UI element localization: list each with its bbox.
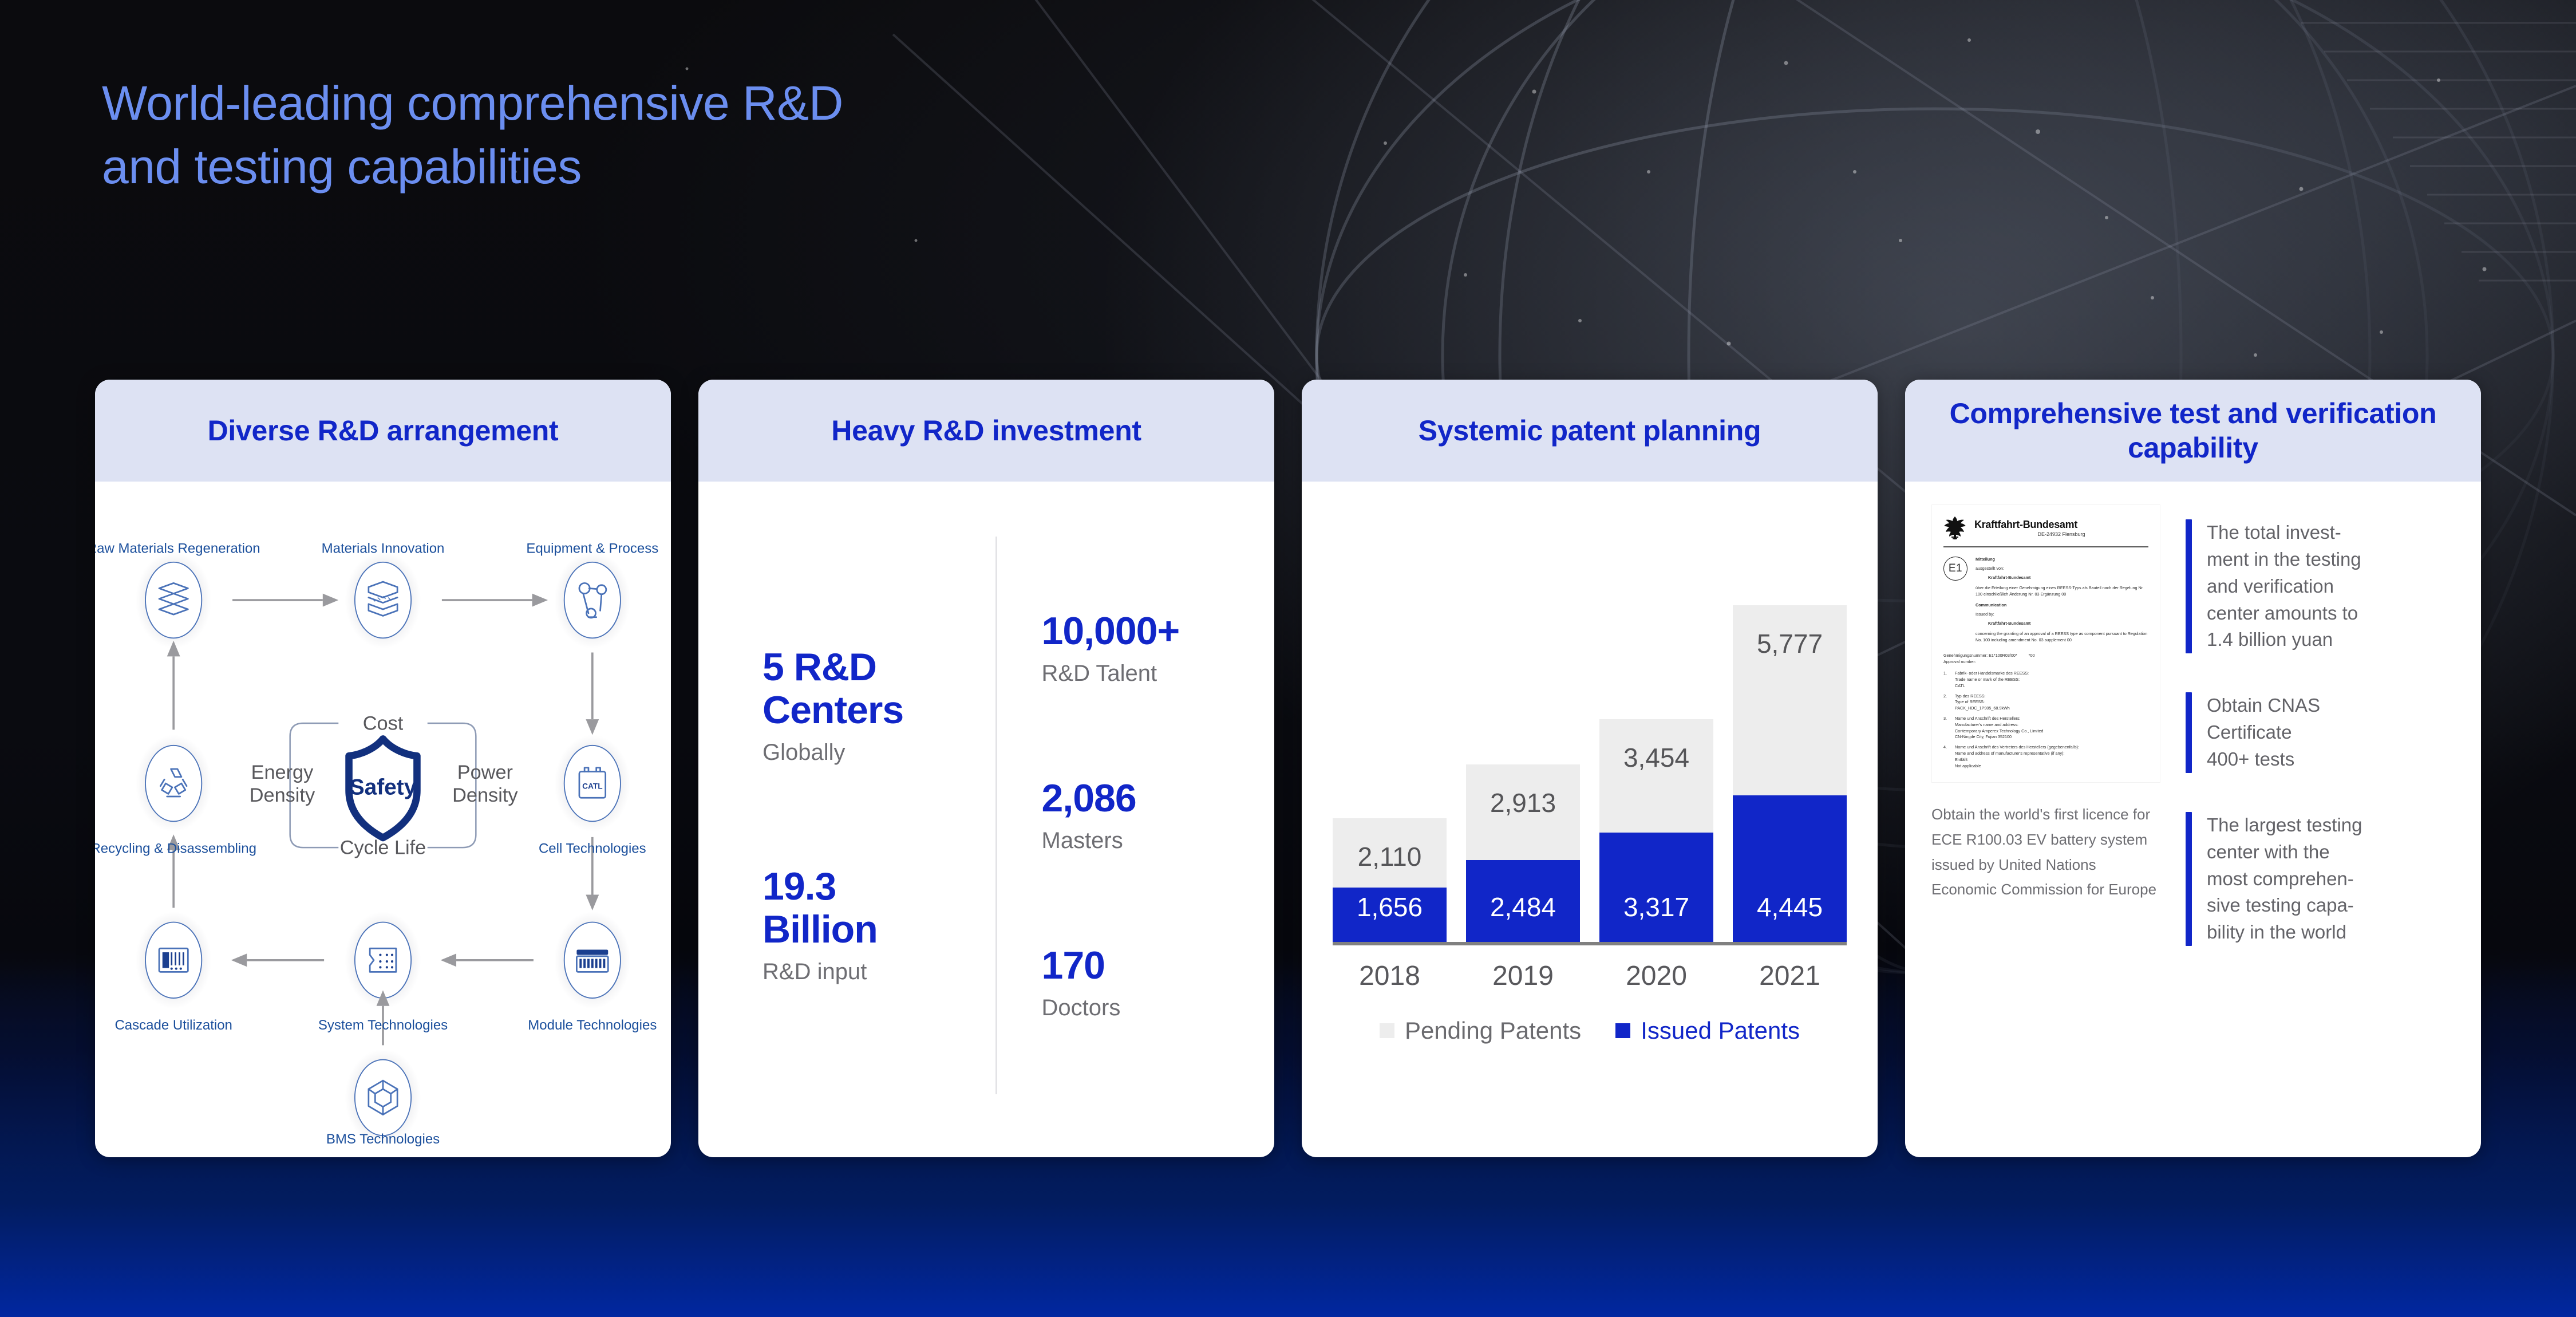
certificate-item-line: Not applicable xyxy=(1955,763,2079,770)
card-body: .nl { fill:#1b4f9c; font-family:"Liberat… xyxy=(95,482,671,1157)
node-label-cell-technologies: Cell Technologies xyxy=(539,841,646,856)
bar-label-issued: 3,317 xyxy=(1599,892,1713,922)
stat-label: Doctors xyxy=(1042,995,1275,1021)
card-systemic-patent-planning[interactable]: Systemic patent planning 2,1101,6562,913… xyxy=(1302,380,1878,1157)
bar-label-issued: 4,445 xyxy=(1733,892,1847,922)
certificate-item-line: Typ des REESS: xyxy=(1955,693,2010,700)
certificate-item-lines: Name und Anschrift des Herstellers:Manuf… xyxy=(1955,716,2043,740)
certificate-item-number: 1. xyxy=(1943,671,1950,689)
legend-label: Issued Patents xyxy=(1641,1017,1800,1044)
cert-en-body: concerning the granting of an approval o… xyxy=(1976,631,2148,644)
stat-label: Masters xyxy=(1042,828,1275,854)
certificate-divider xyxy=(1943,546,2148,547)
stat-label: Globally xyxy=(762,740,995,766)
stat-doctors: 170 Doctors xyxy=(1042,944,1275,1021)
legend-swatch-issued xyxy=(1615,1023,1630,1038)
card-header: Systemic patent planning xyxy=(1302,380,1878,482)
card-heavy-rd-investment[interactable]: Heavy R&D investment 5 R&D Centers Globa… xyxy=(698,380,1274,1157)
cert-en-issuer: Kraftfahrt-Bundesamt xyxy=(1976,621,2148,627)
legend-item-issued-patents[interactable]: Issued Patents xyxy=(1615,1017,1800,1044)
certificate-org-address: DE-24932 Flensburg xyxy=(1974,531,2148,537)
cert-de-issuer: Kraftfahrt-Bundesamt xyxy=(1976,575,2148,581)
cert-en-issued-by-label: Issued by: xyxy=(1976,612,2148,618)
bar-segment-pending[interactable]: 2,913 xyxy=(1466,764,1580,860)
certificate-item-list: 1.Fabrik- oder Handelsmarke des REESS:Tr… xyxy=(1943,671,2148,769)
node-label-equipment-process: Equipment & Process xyxy=(526,541,658,557)
verification-content: Kraftfahrt-Bundesamt DE-24932 Flensburg … xyxy=(1905,482,2481,1157)
stat-label: R&D input xyxy=(762,959,995,985)
stat-value: 2,086 xyxy=(1042,777,1275,820)
bar-group[interactable]: 2,1101,656 xyxy=(1333,818,1447,942)
cert-en-heading: Communication xyxy=(1976,602,2148,609)
bullet-text: The largest testing center with the most… xyxy=(2207,812,2362,946)
card-comprehensive-test-verification[interactable]: Comprehensive test and verification capa… xyxy=(1905,380,2481,1157)
bullet-cnas-certificate: Obtain CNAS Certificate 400+ tests xyxy=(2186,692,2452,773)
certificate-item: 1.Fabrik- oder Handelsmarke des REESS:Tr… xyxy=(1943,671,2148,689)
certificate-notice-text: Mitteilung ausgestellt von: Kraftfahrt-B… xyxy=(1976,557,2148,646)
certificate-item-line: Fabrik- oder Handelsmarke des REESS: xyxy=(1955,671,2029,677)
approval-suffix: *00 xyxy=(2018,653,2035,658)
card-title: Heavy R&D investment xyxy=(831,413,1141,448)
bullet-accent-bar xyxy=(2186,692,2192,773)
verification-bullet-list: The total invest- ment in the testing an… xyxy=(2186,504,2452,1134)
legend-swatch-pending xyxy=(1380,1023,1394,1038)
bar-segment-issued[interactable]: 2,484 xyxy=(1466,860,1580,942)
certificate-letterhead: Kraftfahrt-Bundesamt DE-24932 Flensburg xyxy=(1943,515,2148,541)
stats-column-right: 10,000+ R&D Talent 2,086 Masters 170 Doc… xyxy=(995,537,1275,1094)
certificate-item-number: 3. xyxy=(1943,716,1950,740)
bullet-largest-testing-center: The largest testing center with the most… xyxy=(2186,812,2452,946)
certificate-item: 4.Name und Anschrift des Vertreters des … xyxy=(1943,744,2148,769)
legend-label: Pending Patents xyxy=(1405,1017,1581,1044)
bar-segment-pending[interactable]: 2,110 xyxy=(1333,818,1447,888)
ring-label-energy-density: Energy xyxy=(251,762,314,783)
legend-item-pending-patents[interactable]: Pending Patents xyxy=(1380,1017,1581,1044)
node-label-cascade-utilization: Cascade Utilization xyxy=(114,1018,232,1033)
card-body: 5 R&D Centers Globally 19.3 Billion R&D … xyxy=(698,482,1274,1157)
page-title-line-1: World-leading comprehensive R&D xyxy=(102,72,843,135)
certificate-item-line: Type of REESS: xyxy=(1955,699,2010,705)
certificate-item-line: Manufacturer's name and address: xyxy=(1955,722,2043,728)
federal-eagle-icon xyxy=(1943,515,1966,541)
certificate-item-line: CN-Ningde City, Fujian 352100 xyxy=(1955,734,2043,740)
bar-segment-pending[interactable]: 3,454 xyxy=(1599,719,1713,833)
stat-value: 5 R&D Centers xyxy=(762,646,995,732)
certificate-caption: Obtain the world's first licence for ECE… xyxy=(1931,802,2160,902)
bullet-total-investment: The total invest- ment in the testing an… xyxy=(2186,519,2452,653)
bullet-accent-bar xyxy=(2186,812,2192,946)
bar-group[interactable]: 5,7774,445 xyxy=(1733,605,1847,942)
e1-approval-stamp-icon: E1 xyxy=(1943,557,1967,581)
stat-rd-talent: 10,000+ R&D Talent xyxy=(1042,610,1275,687)
card-title: Systemic patent planning xyxy=(1419,413,1761,448)
rd-arrangement-diagram: .nl { fill:#1b4f9c; font-family:"Liberat… xyxy=(95,482,671,1157)
bar-label-pending: 2,110 xyxy=(1333,841,1447,872)
approval-en: Approval number: xyxy=(1943,658,2148,665)
certificate-item-line: Entfällt xyxy=(1955,757,2079,763)
ring-label-power-density: Power xyxy=(457,762,513,783)
investment-stats: 5 R&D Centers Globally 19.3 Billion R&D … xyxy=(698,482,1274,1157)
cert-de-body: über die Erteilung einer Genehmigung ein… xyxy=(1976,585,2148,598)
bullet-accent-bar xyxy=(2186,519,2192,653)
card-body: 2,1101,6562,9132,4843,4543,3175,7774,445… xyxy=(1302,482,1878,1157)
bar-label-issued: 2,484 xyxy=(1466,892,1580,922)
certificate-item-line: Name und Anschrift des Vertreters des He… xyxy=(1955,744,2079,751)
stat-value: 19.3 Billion xyxy=(762,865,995,951)
node-label-module-technologies: Module Technologies xyxy=(528,1018,657,1033)
stat-value: 10,000+ xyxy=(1042,610,1275,653)
card-header: Heavy R&D investment xyxy=(698,380,1274,482)
approval-de: Genehmigungsnummer: E1*100R03/00* xyxy=(1943,653,2017,658)
chart-x-axis: 2018201920202021 xyxy=(1333,960,1847,992)
card-body: Kraftfahrt-Bundesamt DE-24932 Flensburg … xyxy=(1905,482,2481,1157)
certificate-column: Kraftfahrt-Bundesamt DE-24932 Flensburg … xyxy=(1931,504,2160,1134)
x-tick-label: 2018 xyxy=(1333,960,1447,992)
ring-label-cost: Cost xyxy=(363,712,404,734)
page-title: World-leading comprehensive R&D and test… xyxy=(102,72,843,199)
page-title-line-2: and testing capabilities xyxy=(102,135,843,199)
x-tick-label: 2021 xyxy=(1733,960,1847,992)
card-title: Diverse R&D arrangement xyxy=(208,413,559,448)
certificate-org-name: Kraftfahrt-Bundesamt xyxy=(1974,519,2148,531)
bar-label-issued: 1,656 xyxy=(1333,892,1447,922)
bar-segment-issued[interactable]: 1,656 xyxy=(1333,888,1447,942)
stat-value: 170 xyxy=(1042,944,1275,987)
cert-de-issued-by-label: ausgestellt von: xyxy=(1976,566,2148,572)
cert-de-heading: Mitteilung xyxy=(1976,557,2148,563)
bullet-text: Obtain CNAS Certificate 400+ tests xyxy=(2207,692,2320,773)
chart-legend: Pending Patents Issued Patents xyxy=(1333,1017,1847,1044)
patent-stacked-bar-chart: 2,1101,6562,9132,4843,4543,3175,7774,445… xyxy=(1302,482,1878,1157)
bar-label-pending: 5,777 xyxy=(1733,628,1847,659)
certificate-item-number: 4. xyxy=(1943,744,1950,769)
stats-column-left: 5 R&D Centers Globally 19.3 Billion R&D … xyxy=(698,537,995,1094)
certificate-approval-number: Genehmigungsnummer: E1*100R03/00* *00 Ap… xyxy=(1943,652,2148,665)
certificate-item-line: Name and address of manufacturer's repre… xyxy=(1955,751,2079,757)
svg-text:Density: Density xyxy=(452,784,518,806)
certificate-item-line: Trade name or mark of the REESS: xyxy=(1955,677,2029,683)
svg-text:CATL: CATL xyxy=(582,782,603,790)
certificate-item-line: CATL xyxy=(1955,683,2029,689)
svg-text:Density: Density xyxy=(250,784,315,806)
stat-rd-input: 19.3 Billion R&D input xyxy=(762,865,995,985)
certificate-item-lines: Name und Anschrift des Vertreters des He… xyxy=(1955,744,2079,769)
bar-segment-pending[interactable]: 5,777 xyxy=(1733,605,1847,795)
x-tick-label: 2019 xyxy=(1466,960,1580,992)
safety-shield-icon: Safety xyxy=(349,739,417,838)
node-label-raw-materials-regeneration: Raw Materials Regeneration xyxy=(95,541,260,557)
card-header: Diverse R&D arrangement xyxy=(95,380,671,482)
card-title: Comprehensive test and verification capa… xyxy=(1922,396,2464,465)
certificate-item-lines: Fabrik- oder Handelsmarke des REESS:Trad… xyxy=(1955,671,2029,689)
certificate-item-line: PACK_HDC_1P905_68.9kWh xyxy=(1955,705,2010,712)
svg-text:Safety: Safety xyxy=(350,775,417,800)
bar-segment-issued[interactable]: 3,317 xyxy=(1599,833,1713,942)
certificate-item-number: 2. xyxy=(1943,693,1950,712)
x-tick-label: 2020 xyxy=(1599,960,1713,992)
capability-card-row: Diverse R&D arrangement .nl { fill:#1b4f… xyxy=(95,380,2481,1157)
card-header: Comprehensive test and verification capa… xyxy=(1905,380,2481,482)
bullet-text: The total invest- ment in the testing an… xyxy=(2207,519,2361,653)
certificate-document-thumbnail[interactable]: Kraftfahrt-Bundesamt DE-24932 Flensburg … xyxy=(1931,504,2160,783)
certificate-item: 2.Typ des REESS:Type of REESS:PACK_HDC_1… xyxy=(1943,693,2148,712)
certificate-item-line: Name und Anschrift des Herstellers: xyxy=(1955,716,2043,722)
chart-plot-area: 2,1101,6562,9132,4843,4543,3175,7774,445 xyxy=(1333,504,1847,945)
certificate-item-line: Contemporary Amperex Technology Co., Lim… xyxy=(1955,728,2043,735)
node-label-bms-technologies: BMS Technologies xyxy=(326,1131,440,1147)
stat-label: R&D Talent xyxy=(1042,661,1275,687)
stat-masters: 2,086 Masters xyxy=(1042,777,1275,854)
certificate-item: 3.Name und Anschrift des Herstellers:Man… xyxy=(1943,716,2148,740)
bar-group[interactable]: 2,9132,484 xyxy=(1466,764,1580,942)
node-label-recycling-disassembling: Recycling & Disassembling xyxy=(95,841,256,856)
card-diverse-rd-arrangement[interactable]: Diverse R&D arrangement .nl { fill:#1b4f… xyxy=(95,380,671,1157)
node-label-materials-innovation: Materials Innovation xyxy=(322,541,445,557)
bar-segment-issued[interactable]: 4,445 xyxy=(1733,795,1847,942)
stat-rd-centers: 5 R&D Centers Globally xyxy=(762,646,995,766)
bar-group[interactable]: 3,4543,317 xyxy=(1599,719,1713,942)
certificate-item-lines: Typ des REESS:Type of REESS:PACK_HDC_1P9… xyxy=(1955,693,2010,712)
node-label-system-technologies: System Technologies xyxy=(318,1018,448,1033)
bar-label-pending: 3,454 xyxy=(1599,742,1713,773)
bar-label-pending: 2,913 xyxy=(1466,787,1580,818)
certificate-notice-block: E1 Mitteilung ausgestellt von: Kraftfahr… xyxy=(1943,557,2148,646)
